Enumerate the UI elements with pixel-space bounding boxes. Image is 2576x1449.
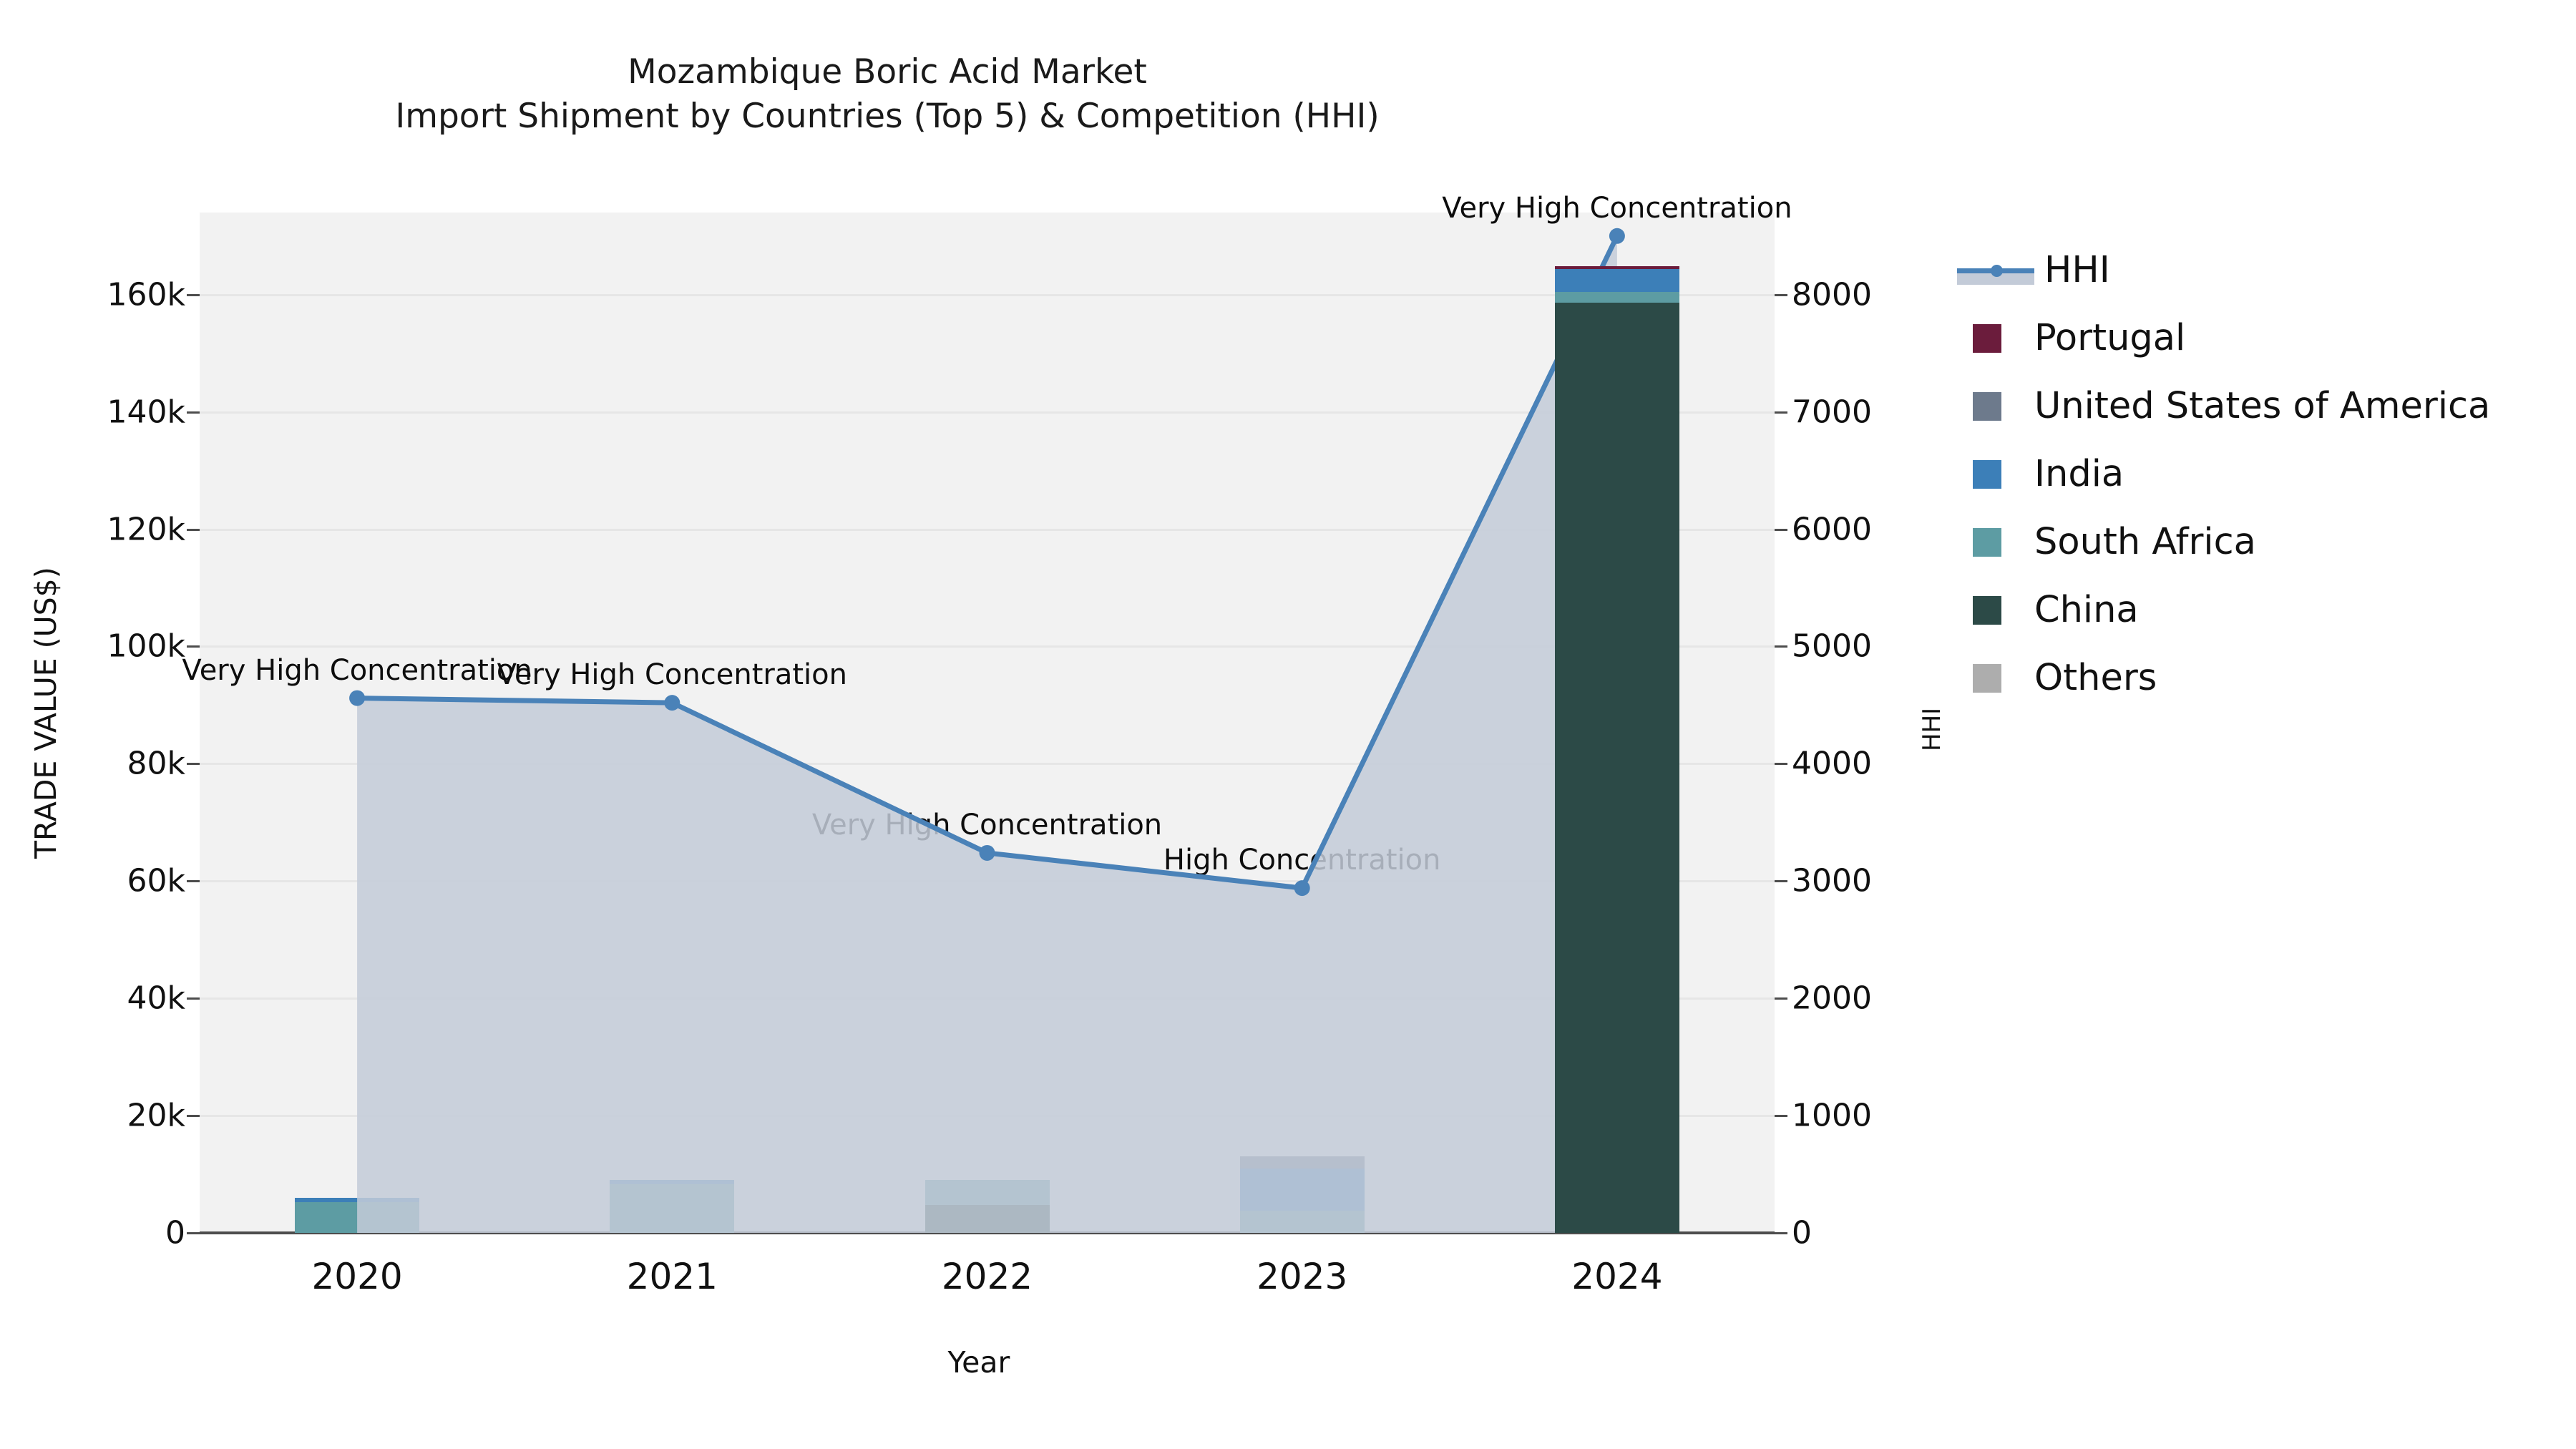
bar-segment[interactable] [1240, 1211, 1365, 1233]
concentration-annotation: Very High Concentration [1442, 192, 1792, 225]
y-axis-tick-label: 40k [0, 980, 185, 1017]
gridline [200, 529, 1775, 531]
y-axis-tick-label: 140k [0, 394, 185, 430]
y2-axis-tick-label: 4000 [1792, 746, 1872, 782]
y-axis-tick-label: 0 [0, 1215, 185, 1252]
color-swatch-icon [1973, 324, 2001, 353]
chart-canvas: Mozambique Boric Acid Market Import Ship… [0, 0, 2576, 1449]
y-axis-title: TRADE VALUE (US$) [29, 567, 63, 859]
legend-item[interactable]: Portugal [1957, 304, 2490, 372]
color-swatch-icon [1973, 460, 2001, 489]
bar-segment[interactable] [925, 1180, 1050, 1204]
color-swatch-icon [1973, 596, 2001, 625]
y2-axis-tick-mark [1775, 529, 1787, 531]
y-axis-tick-label: 60k [0, 863, 185, 899]
concentration-annotation: Very High Concentration [497, 658, 847, 691]
y2-axis-tick-label: 3000 [1792, 863, 1872, 899]
legend-item-label: Others [2034, 657, 2157, 699]
bar-segment[interactable] [1555, 292, 1679, 303]
bar-segment[interactable] [610, 1180, 734, 1184]
y2-axis-tick-mark [1775, 411, 1787, 414]
chart-title-block: Mozambique Boric Acid Market Import Ship… [0, 50, 1775, 139]
legend-item[interactable]: China [1957, 576, 2490, 644]
y2-axis-tick-mark [1775, 1232, 1787, 1234]
gridline [200, 1115, 1775, 1117]
y-axis-tick-mark [187, 1232, 200, 1234]
page-title: Mozambique Boric Acid Market [0, 50, 1775, 94]
y2-axis-tick-label: 0 [1792, 1215, 1812, 1252]
chart-subtitle: Import Shipment by Countries (Top 5) & C… [0, 94, 1775, 139]
y-axis-tick-mark [187, 411, 200, 414]
bar-segment[interactable] [1555, 266, 1679, 268]
x-axis-tick-label: 2020 [311, 1256, 402, 1297]
y-axis-tick-label: 80k [0, 746, 185, 782]
gridline [200, 645, 1775, 648]
y-axis-tick-label: 160k [0, 276, 185, 313]
color-swatch-icon [1973, 528, 2001, 557]
concentration-annotation: Very High Concentration [812, 809, 1162, 841]
legend-item[interactable]: HHI [1957, 236, 2490, 304]
y-axis-tick-mark [187, 645, 200, 648]
gridline [200, 880, 1775, 882]
y-axis-tick-label: 20k [0, 1098, 185, 1134]
y2-axis-tick-label: 8000 [1792, 276, 1872, 313]
y-axis-tick-mark [187, 1115, 200, 1117]
y-axis-tick-mark [187, 294, 200, 296]
legend-item-label: South Africa [2034, 521, 2256, 563]
x-axis-tick-label: 2024 [1571, 1256, 1662, 1297]
bar-segment[interactable] [295, 1198, 419, 1202]
bar-segment[interactable] [295, 1202, 419, 1233]
y2-axis-tick-label: 2000 [1792, 980, 1872, 1017]
y2-axis-tick-label: 5000 [1792, 628, 1872, 665]
y2-axis-tick-mark [1775, 1115, 1787, 1117]
color-swatch-icon [1973, 664, 2001, 693]
legend-item-label: China [2034, 589, 2139, 631]
color-swatch-icon [1973, 392, 2001, 421]
y2-axis-tick-mark [1775, 763, 1787, 765]
plot-area [200, 213, 1775, 1233]
bar-segment[interactable] [1240, 1169, 1365, 1211]
x-axis-title: Year [948, 1345, 1010, 1380]
legend: HHIPortugalUnited States of AmericaIndia… [1957, 236, 2490, 712]
y2-axis-tick-label: 7000 [1792, 394, 1872, 430]
gridline [200, 997, 1775, 1000]
bar-segment[interactable] [1240, 1156, 1365, 1168]
y2-axis-tick-label: 6000 [1792, 511, 1872, 547]
y2-axis-tick-mark [1775, 294, 1787, 296]
stacked-bar[interactable] [610, 1180, 734, 1233]
x-axis-tick-label: 2022 [942, 1256, 1033, 1297]
y-axis-tick-mark [187, 529, 200, 531]
y2-axis-tick-mark [1775, 645, 1787, 648]
gridline [200, 294, 1775, 296]
y-axis-tick-label: 120k [0, 511, 185, 547]
bar-segment[interactable] [925, 1205, 1050, 1233]
legend-item[interactable]: India [1957, 440, 2490, 508]
legend-item-label: Portugal [2034, 317, 2185, 359]
legend-item[interactable]: United States of America [1957, 372, 2490, 440]
stacked-bar[interactable] [295, 1198, 419, 1233]
y2-axis-tick-mark [1775, 880, 1787, 882]
y-axis-tick-mark [187, 763, 200, 765]
concentration-annotation: Very High Concentration [182, 654, 532, 687]
bar-segment[interactable] [1555, 303, 1679, 1233]
gridline [200, 411, 1775, 414]
legend-marker-dot [1991, 265, 2003, 277]
y2-axis-tick-label: 1000 [1792, 1098, 1872, 1134]
y-axis-tick-mark [187, 997, 200, 1000]
stacked-bar[interactable] [1555, 266, 1679, 1233]
stacked-bar[interactable] [1240, 1156, 1365, 1233]
gridline [200, 763, 1775, 765]
y2-axis-tick-mark [1775, 997, 1787, 1000]
y-axis-tick-mark [187, 880, 200, 882]
y-axis-tick-label: 100k [0, 628, 185, 665]
concentration-annotation: High Concentration [1163, 844, 1441, 877]
line-with-marker-icon [1957, 256, 2034, 285]
x-axis-tick-label: 2023 [1257, 1256, 1347, 1297]
stacked-bar[interactable] [925, 1180, 1050, 1233]
legend-item[interactable]: Others [1957, 644, 2490, 712]
x-axis-tick-label: 2021 [627, 1256, 718, 1297]
legend-item-label: HHI [2044, 249, 2110, 291]
bar-segment[interactable] [610, 1184, 734, 1233]
legend-item-label: United States of America [2034, 385, 2490, 427]
bar-segment[interactable] [1555, 269, 1679, 292]
legend-item-label: India [2034, 453, 2124, 495]
legend-item[interactable]: South Africa [1957, 508, 2490, 576]
y2-axis-title: HHI [1918, 708, 1946, 751]
